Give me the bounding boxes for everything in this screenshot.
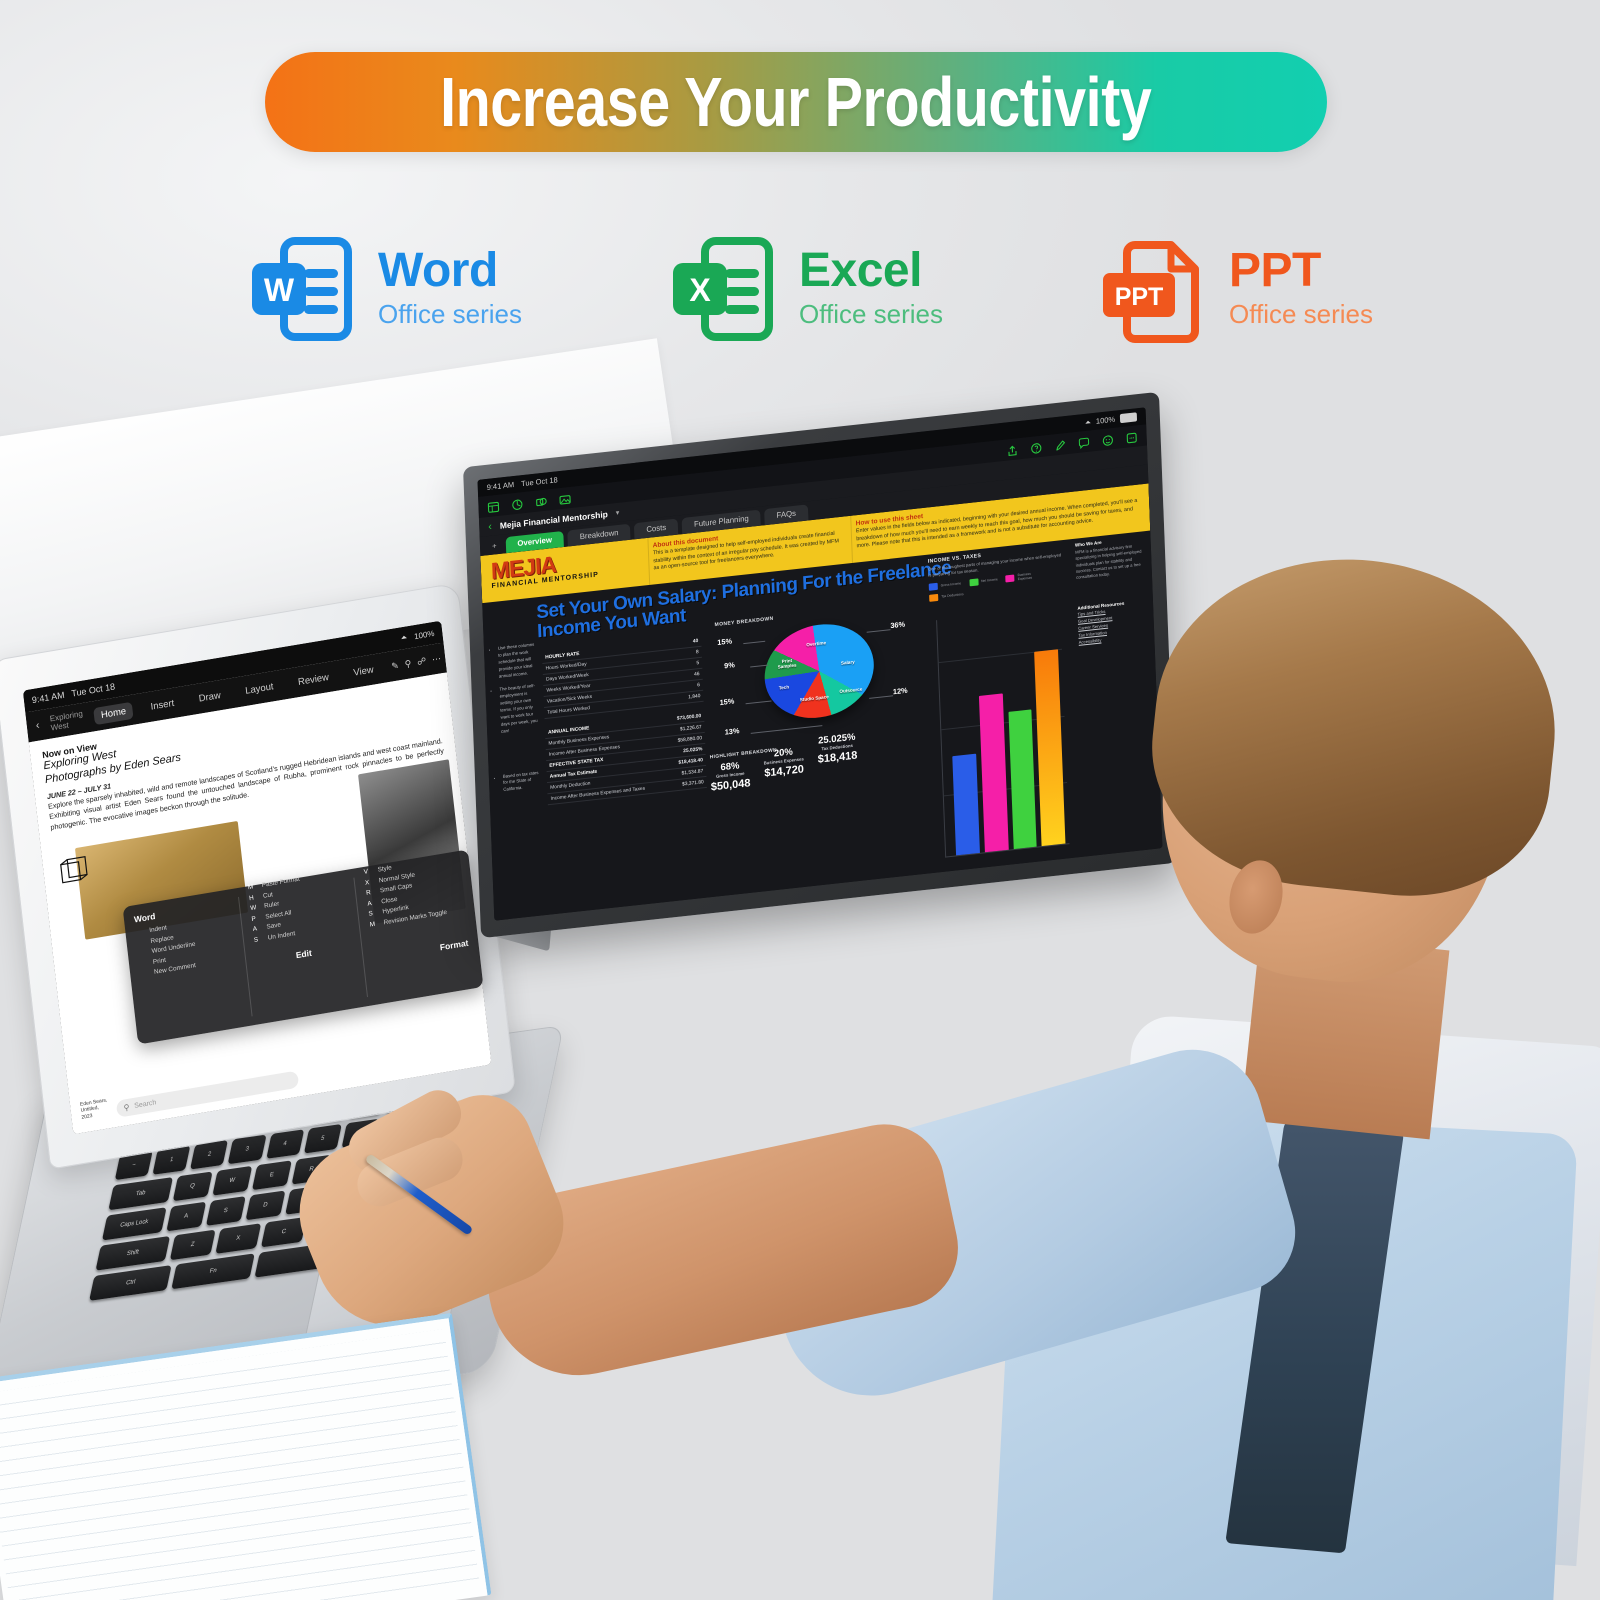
person-using-devices (1045, 560, 1600, 1600)
money-breakdown-pie-chart: MONEY BREAKDOWN Overtime Salary Outsourc… (715, 605, 919, 757)
row-value: $1,226.67 (680, 725, 702, 732)
key[interactable]: 5 (304, 1124, 342, 1154)
ribbon-tab-insert[interactable]: Insert (143, 693, 182, 716)
laptop-status-date: Tue Oct 18 (71, 681, 116, 698)
shortcut-key: M (369, 919, 378, 931)
shortcut-column-edit: Edit MPaste Format HCut WRuler PSelect A… (249, 879, 357, 1014)
note-item: Use these columns to plan the work sched… (498, 642, 537, 681)
legend-item: Tax Deductions (929, 592, 964, 603)
chart-icon[interactable] (511, 497, 523, 510)
key[interactable]: A (166, 1202, 206, 1232)
svg-text:X: X (689, 272, 711, 308)
bar-gross-income (952, 754, 979, 856)
key-ctrl[interactable]: Ctrl (89, 1265, 172, 1301)
note-item: Based on tax rates for the State of Cali… (503, 769, 542, 794)
key[interactable]: S (206, 1196, 246, 1226)
key[interactable]: Q (172, 1171, 212, 1201)
row-value: 6 (697, 683, 700, 688)
share-icon[interactable] (1006, 443, 1018, 456)
key[interactable]: X (215, 1223, 261, 1254)
legend-item: Net Income (969, 576, 998, 586)
document-caption: Eden Sears, Untitled, 2023 (80, 1096, 112, 1120)
search-input[interactable]: ⚲ Search (116, 1071, 299, 1118)
office-suite-row: W Word Office series X Exc (0, 225, 1600, 375)
row-value: 5 (696, 661, 699, 666)
note-item: The beauty of self-employment is setting… (499, 683, 539, 735)
shortcut-column-format: Format VStyle XNormal Style RSmall Caps … (364, 860, 472, 995)
share-icon[interactable]: ☍ (417, 655, 427, 667)
highlight-item-business-expenses: 20% Business Expenses $14,720 (763, 745, 805, 787)
wifi-icon: ⏶ (400, 632, 407, 643)
row-value: $58,880.00 (678, 736, 703, 744)
laptop-battery-label: 100% (414, 628, 435, 640)
highlight-item-tax-deductions: 25.025% Tax Deductions $18,418 (817, 731, 858, 781)
shortcut-column-word: Word Indent Replace Word Underline Print… (133, 899, 241, 1034)
row-label: HOURLY RATE (545, 651, 579, 660)
legend-label: Gross Income (941, 582, 962, 588)
row-label: ANNUAL INCOME (548, 726, 589, 735)
highlight-amount: $18,418 (818, 749, 858, 765)
legend-label: Net Income (981, 578, 998, 583)
key[interactable]: 4 (266, 1129, 304, 1159)
left-notes: Use these columns to plan the work sched… (492, 642, 542, 802)
more-icon[interactable] (1125, 430, 1137, 443)
pie-chart-graphic (759, 614, 880, 728)
comment-icon[interactable]: ✎ (391, 660, 400, 672)
shortcut-column-title: Format (373, 938, 469, 964)
pie-pct-overtime: 15% (717, 636, 732, 647)
headline-banner: Increase Your Productivity (265, 52, 1327, 152)
pie-pct-studio-space: 13% (725, 726, 740, 737)
key[interactable]: E (252, 1160, 292, 1190)
shortcut-column-title: Edit (256, 941, 352, 967)
wifi-icon: ⏶ (1085, 417, 1091, 428)
row-value: 8 (696, 650, 699, 655)
help-icon[interactable] (1030, 440, 1042, 453)
search-icon: ⚲ (123, 1103, 130, 1113)
svg-text:PPT: PPT (1115, 283, 1164, 311)
key[interactable]: W (212, 1166, 252, 1196)
income-table[interactable]: HOURLY RATE40 Hours Worked/Day8 Days Wor… (542, 636, 707, 806)
ribbon-tab-home[interactable]: Home (93, 701, 134, 724)
shape-icon[interactable] (535, 494, 547, 507)
battery-icon (1120, 412, 1137, 423)
office-subtitle-excel: Office series (799, 298, 943, 332)
shortcut-key (140, 969, 149, 981)
chevron-down-icon[interactable]: ▾ (616, 508, 620, 516)
row-value: 1,840 (688, 694, 700, 700)
headline-text: Increase Your Productivity (440, 67, 1151, 137)
laptop-status-time: 9:41 AM (31, 690, 65, 705)
office-subtitle-word: Office series (378, 298, 522, 332)
office-item-word: W Word Office series (246, 233, 522, 345)
highlight-amount: $14,720 (764, 763, 805, 779)
highlight-amount: $50,048 (711, 777, 751, 793)
ppt-icon: PPT (1097, 233, 1209, 345)
product-marketing-image: Increase Your Productivity W Word Office… (0, 0, 1600, 1600)
bar-business-expenses (979, 694, 1009, 853)
format-brush-icon[interactable] (1054, 438, 1066, 451)
row-value: $18,418.40 (678, 758, 703, 766)
comment-icon[interactable] (1078, 435, 1090, 448)
media-icon[interactable] (559, 491, 571, 504)
key-caps-lock[interactable]: Caps Lock (102, 1207, 166, 1240)
search-icon[interactable]: ⚲ (404, 658, 412, 670)
ribbon-tab-review[interactable]: Review (290, 667, 336, 691)
row-value: $73,600.00 (677, 714, 702, 722)
row-value: 25.025% (683, 747, 702, 754)
office-name-word: Word (378, 247, 522, 296)
search-placeholder: Search (134, 1099, 157, 1110)
table-icon[interactable] (487, 499, 499, 512)
legend-label: Tax Deductions (941, 593, 964, 599)
row-value: $1,534.87 (682, 769, 704, 776)
back-icon[interactable]: ‹ (35, 719, 40, 732)
ribbon-tab-layout[interactable]: Layout (237, 677, 281, 701)
collaborate-icon[interactable] (1102, 432, 1114, 445)
legend-label: Business Expenses (1018, 571, 1046, 581)
bar-net-income (1008, 710, 1037, 850)
monitor-status-time: 9:41 AM (487, 480, 515, 492)
row-value: 40 (693, 639, 699, 645)
ribbon-tab-view[interactable]: View (346, 660, 382, 683)
key-tab[interactable]: Tab (108, 1177, 172, 1210)
office-item-excel: X Excel Office series (667, 233, 943, 345)
word-icon: W (246, 233, 358, 345)
row-label: Hours Worked/Day (546, 662, 587, 671)
pie-pct-tech: 15% (719, 696, 734, 707)
highlight-item-gross-income: 68% Gross Income $50,048 (710, 759, 751, 793)
back-icon[interactable]: ‹ (488, 520, 492, 532)
office-name-excel: Excel (799, 247, 943, 296)
breadcrumb: Exploring West (49, 709, 84, 732)
svg-text:W: W (264, 272, 295, 308)
row-value: $3,371.80 (682, 780, 704, 787)
ribbon-tab-draw[interactable]: Draw (191, 685, 229, 708)
office-name-ppt: PPT (1229, 247, 1373, 296)
pie-pct-outsource: 12% (893, 686, 908, 697)
row-label: Monthly Deduction (550, 781, 590, 790)
key[interactable]: Z (170, 1230, 216, 1261)
pie-pct-salary: 36% (890, 620, 905, 631)
office-subtitle-ppt: Office series (1229, 298, 1373, 332)
row-value: 46 (694, 672, 700, 678)
key[interactable]: 3 (228, 1135, 266, 1165)
more-icon[interactable]: ⋯ (431, 653, 441, 665)
monitor-battery-label: 100% (1096, 415, 1115, 426)
key[interactable]: D (245, 1191, 285, 1221)
shortcut-key: S (253, 935, 262, 947)
key-fn[interactable]: Fn (172, 1253, 255, 1289)
add-sheet-button[interactable]: + (487, 538, 502, 556)
pie-pct-print-samples: 9% (724, 660, 735, 670)
gallery-logo-icon (56, 852, 93, 891)
key-shift[interactable]: Shift (96, 1236, 170, 1271)
legend-item: Gross Income (929, 580, 962, 591)
legend-item: Business Expenses (1006, 571, 1046, 583)
office-item-ppt: PPT PPT Office series (1097, 233, 1373, 345)
excel-icon: X (667, 233, 779, 345)
notebook-lines (0, 1329, 480, 1600)
monitor-status-date: Tue Oct 18 (521, 475, 558, 488)
